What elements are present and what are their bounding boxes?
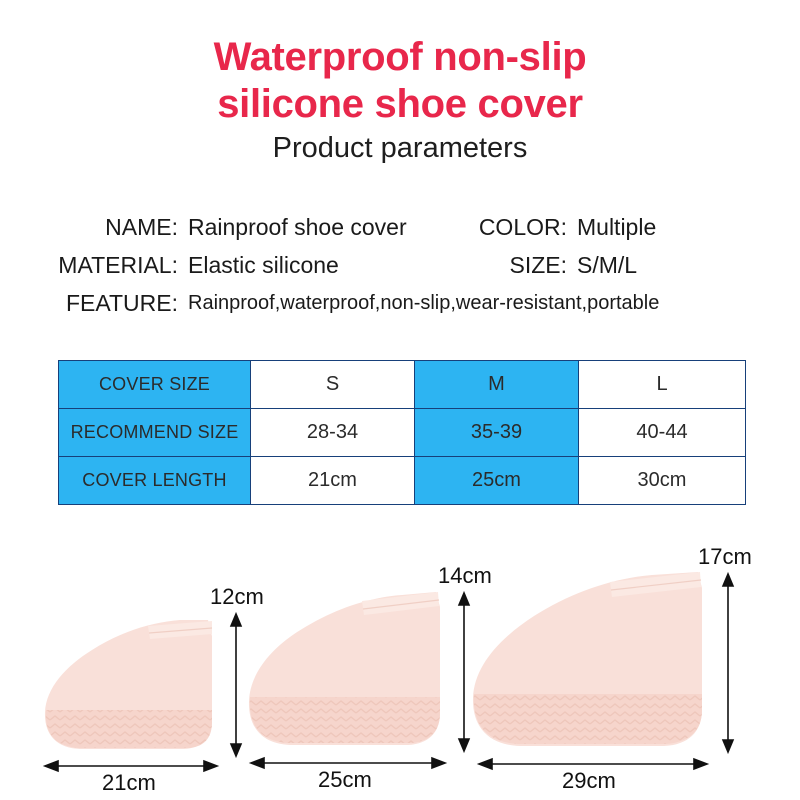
spec-row-material: MATERIAL: Elastic silicone SIZE: S/M/L [0,246,800,284]
shoe-figure-large: 17cm 29cm [470,542,790,800]
cell-length-l: 30cm [579,457,746,505]
spec-label-name: NAME: [0,208,178,246]
cell-size-m: M [415,361,579,409]
cell-recommend-l: 40-44 [579,409,746,457]
spec-value-size: S/M/L [577,246,637,284]
height-arrow-large [723,574,733,752]
size-chart-table: COVER SIZE S M L RECOMMEND SIZE 28-34 35… [58,360,746,505]
spec-value-material: Elastic silicone [188,246,339,284]
shoe-illustration-large [470,542,790,800]
section-subtitle: Product parameters [0,131,800,165]
cell-length-m: 25cm [415,457,579,505]
spec-value-color: Multiple [577,208,656,246]
shoe-figure-small: 12cm 21cm [40,570,270,800]
height-arrow-medium [459,593,469,751]
spec-label-feature: FEATURE: [0,284,178,322]
cell-length-label: COVER LENGTH [59,457,251,505]
height-label-large: 17cm [698,544,752,570]
spec-label-material: MATERIAL: [0,246,178,284]
width-label-small: 21cm [102,770,156,796]
width-label-large: 29cm [562,768,616,794]
cell-recommend-m: 35-39 [415,409,579,457]
title-line-1: Waterproof non-slip [0,34,800,81]
title-line-2: silicone shoe cover [0,81,800,128]
cell-cover-size-label: COVER SIZE [59,361,251,409]
shoe-illustration-medium [246,555,506,800]
product-infographic: Waterproof non-slip silicone shoe cover … [0,0,800,800]
height-arrow-small [231,614,241,756]
specification-list: NAME: Rainproof shoe cover COLOR: Multip… [0,208,800,322]
spec-row-name: NAME: Rainproof shoe cover COLOR: Multip… [0,208,800,246]
shoe-figure-medium: 14cm 25cm [246,555,506,800]
spec-value-feature: Rainproof,waterproof,non-slip,wear-resis… [188,284,659,322]
cell-size-s: S [251,361,415,409]
spec-value-name: Rainproof shoe cover [188,208,407,246]
spec-row-feature: FEATURE: Rainproof,waterproof,non-slip,w… [0,284,800,322]
cell-recommend-s: 28-34 [251,409,415,457]
spec-label-size: SIZE: [380,246,567,284]
shoe-size-illustrations: 12cm 21cm [0,540,800,800]
sole-texture-medium [246,691,450,749]
width-label-medium: 25cm [318,767,372,793]
sole-texture-large [470,688,712,750]
spec-label-color: COLOR: [380,208,567,246]
cell-length-s: 21cm [251,457,415,505]
table-row: RECOMMEND SIZE 28-34 35-39 40-44 [59,409,746,457]
cell-size-l: L [579,361,746,409]
product-title: Waterproof non-slip silicone shoe cover [0,34,800,128]
cell-recommend-label: RECOMMEND SIZE [59,409,251,457]
table-row: COVER SIZE S M L [59,361,746,409]
table-row: COVER LENGTH 21cm 25cm 30cm [59,457,746,505]
